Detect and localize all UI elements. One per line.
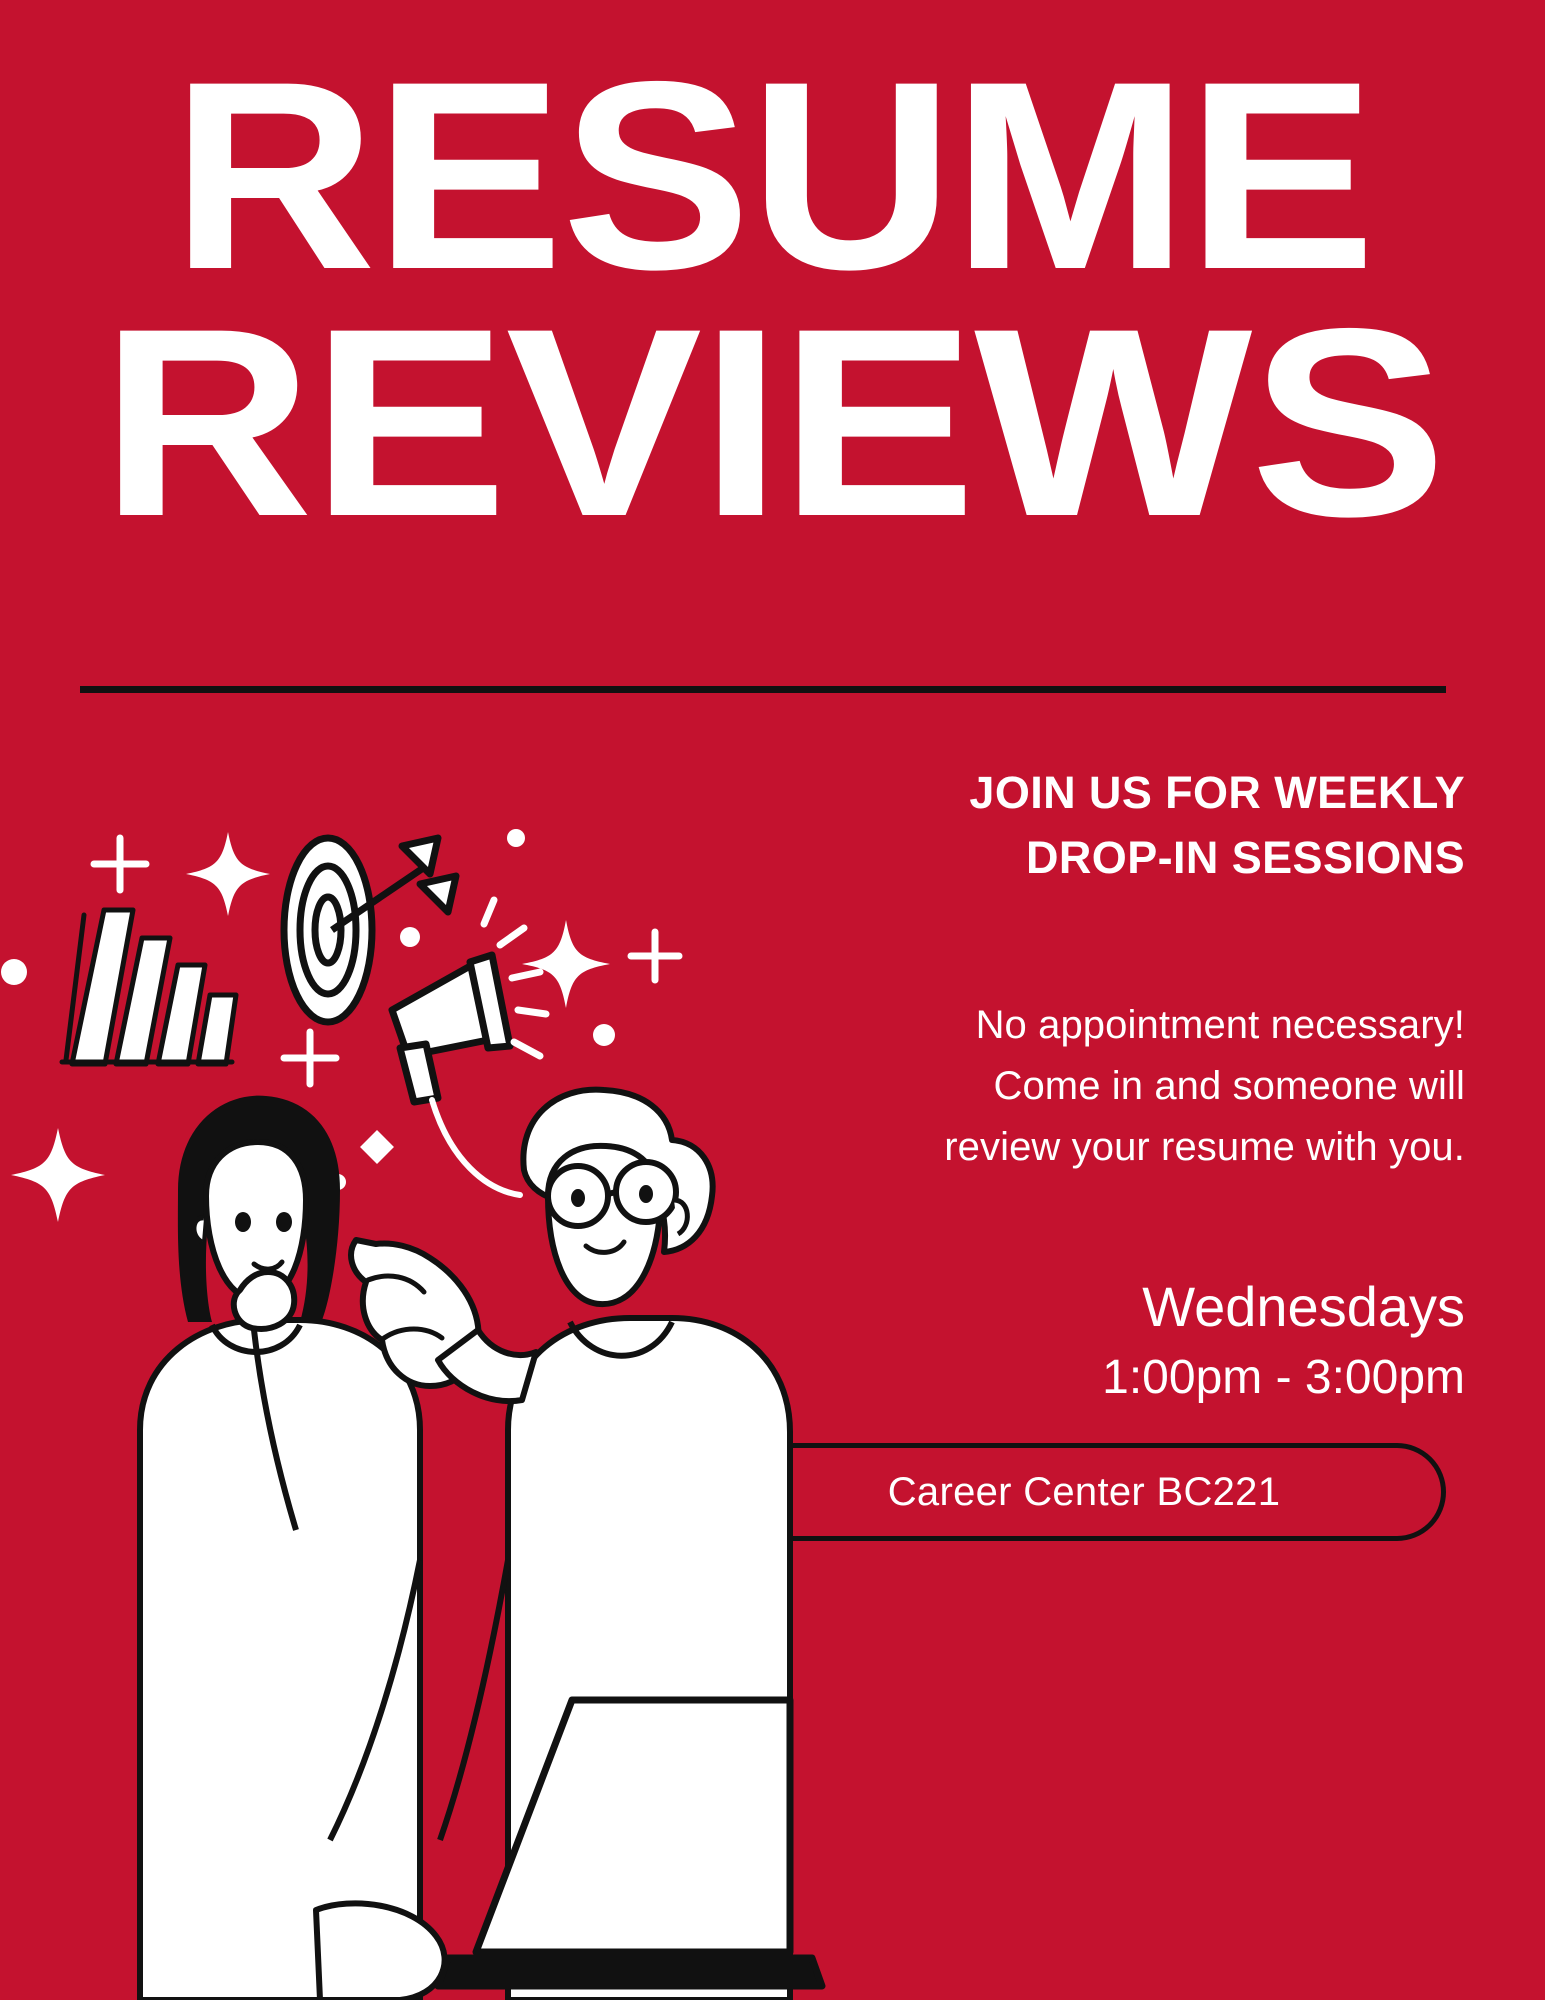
- person-right-hand-fingers: [368, 1276, 424, 1292]
- location-button-label: Career Center BC221: [888, 1470, 1281, 1515]
- person-right-eye: [639, 1185, 653, 1203]
- person-left-eye: [235, 1212, 251, 1232]
- schedule-time: 1:00pm - 3:00pm: [745, 1350, 1465, 1405]
- person-left-hand: [234, 1272, 294, 1329]
- person-right-hand-fingers: [384, 1329, 442, 1338]
- schedule-day: Wednesdays: [745, 1275, 1465, 1339]
- person-left-ear: [194, 1218, 204, 1242]
- person-right-collar: [570, 1322, 672, 1356]
- body-copy: No appointment necessary! Come in and so…: [745, 995, 1465, 1177]
- person-left-arm: [330, 1560, 420, 1840]
- sparkle-icon: [11, 1128, 105, 1222]
- person-right-arm: [438, 1330, 536, 1401]
- location-button[interactable]: Career Center BC221: [722, 1443, 1446, 1541]
- person-left-hands: [316, 1903, 445, 2000]
- diamond-icon: [360, 1130, 394, 1164]
- two-people-at-laptop-illustration: [140, 1090, 822, 2000]
- person-right-hair: [523, 1090, 712, 1252]
- person-left-collar: [212, 1325, 300, 1352]
- sparkle-icon: [522, 920, 610, 1008]
- sparkle-icon: [186, 832, 270, 916]
- megaphone-sound-lines-icon: [484, 900, 546, 1056]
- dot-icon: [507, 829, 525, 847]
- dot-icon: [1, 959, 27, 985]
- plus-icon: [284, 1032, 336, 1084]
- body-line-2: Come in and someone will: [745, 1056, 1465, 1117]
- title-line-2: REVIEWS: [0, 299, 1545, 546]
- page-title: RESUME REVIEWS: [0, 52, 1545, 545]
- laptop-screen: [476, 1700, 790, 1952]
- plus-icon: [94, 838, 146, 890]
- person-right-body: [508, 1318, 790, 2000]
- bar-chart-axis: [66, 915, 84, 1060]
- plus-icon: [631, 932, 679, 980]
- person-left-arm: [254, 1330, 296, 1530]
- person-right-ear: [674, 1200, 687, 1234]
- subtitle: JOIN US FOR WEEKLY DROP-IN SESSIONS: [745, 760, 1465, 891]
- person-right-arm-line: [440, 1560, 508, 1840]
- title-line-1: RESUME: [0, 52, 1545, 299]
- person-right-eye: [571, 1189, 585, 1207]
- dot-icon: [400, 927, 420, 947]
- poster-canvas: RESUME REVIEWS JOIN US FOR WEEKLY DROP-I…: [0, 0, 1545, 2000]
- person-right-mouth: [586, 1242, 624, 1252]
- body-line-1: No appointment necessary!: [745, 995, 1465, 1056]
- dot-icon: [330, 1174, 346, 1190]
- subtitle-line-2: DROP-IN SESSIONS: [745, 825, 1465, 890]
- megaphone-icon: [392, 955, 510, 1102]
- body-line-3: review your resume with you.: [745, 1117, 1465, 1178]
- divider-rule: [80, 686, 1446, 693]
- person-left-body: [140, 1320, 420, 2000]
- dot-icon: [593, 1024, 615, 1046]
- person-left-face: [206, 1142, 306, 1300]
- person-right-hand: [351, 1240, 478, 1386]
- target-arrow-icon: [332, 838, 456, 930]
- person-right-glasses: [548, 1162, 676, 1226]
- subtitle-line-1: JOIN US FOR WEEKLY: [745, 760, 1465, 825]
- person-right-face: [548, 1146, 660, 1304]
- person-left-mouth: [254, 1262, 282, 1269]
- target-with-arrow-icon: [284, 838, 372, 1022]
- laptop-base: [438, 1958, 822, 1986]
- curve-line: [432, 1100, 520, 1195]
- person-left-eye: [276, 1212, 292, 1232]
- bar-chart-icon: [72, 910, 236, 1064]
- person-left-hair: [178, 1096, 340, 1322]
